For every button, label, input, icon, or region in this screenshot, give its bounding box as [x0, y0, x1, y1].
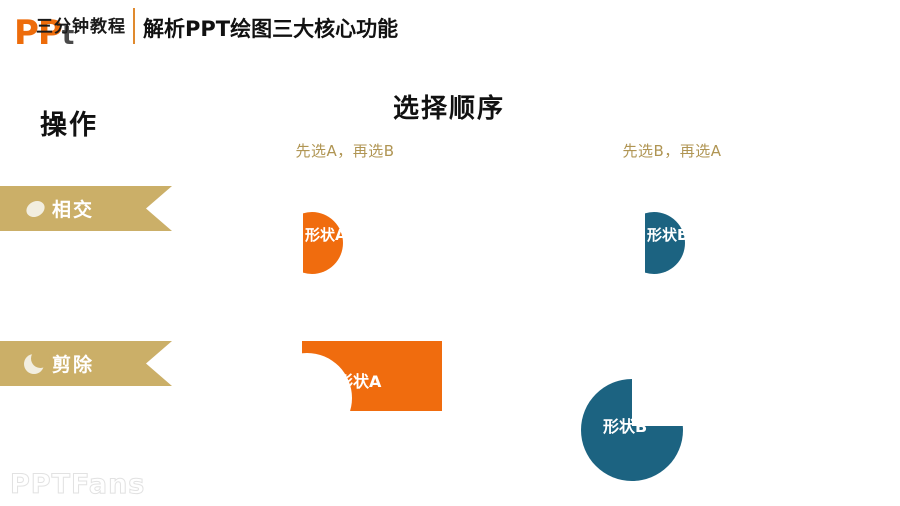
ribbon-intersect: 相交	[0, 186, 172, 231]
column-subtitle-a: 先选A，再选B	[295, 140, 394, 161]
subtract-b-notch	[632, 379, 683, 426]
ribbon-label-subtract: 剪除	[52, 350, 94, 377]
shape-intersect-a[interactable]	[303, 212, 343, 274]
subtract-a-bite	[262, 353, 352, 443]
ribbon-label-intersect: 相交	[52, 195, 94, 222]
crescent-icon	[24, 354, 44, 374]
ribbon-subtract: 剪除	[0, 341, 172, 386]
crescent-bite	[31, 349, 50, 368]
intersect-a-fill	[303, 212, 343, 274]
shape-subtract-b[interactable]	[581, 379, 683, 481]
operation-column-title: 操作	[40, 103, 98, 142]
watermark: PPTFans	[10, 469, 145, 500]
slide-header: PPt 三分钟教程 解析PPT绘图三大核心功能	[0, 0, 900, 56]
header-divider	[133, 8, 135, 44]
lens-icon	[24, 197, 48, 219]
brand-subtitle: 三分钟教程	[36, 12, 126, 37]
intersect-b-fill	[645, 212, 685, 274]
column-subtitle-b: 先选B，再选A	[622, 140, 721, 161]
shape-subtract-a[interactable]	[302, 341, 442, 411]
slide-canvas: PPt 三分钟教程 解析PPT绘图三大核心功能 操作 选择顺序 先选A，再选B …	[0, 0, 900, 506]
shape-intersect-b[interactable]	[645, 212, 685, 274]
page-title: 解析PPT绘图三大核心功能	[143, 13, 398, 43]
order-section-title: 选择顺序	[393, 88, 505, 125]
